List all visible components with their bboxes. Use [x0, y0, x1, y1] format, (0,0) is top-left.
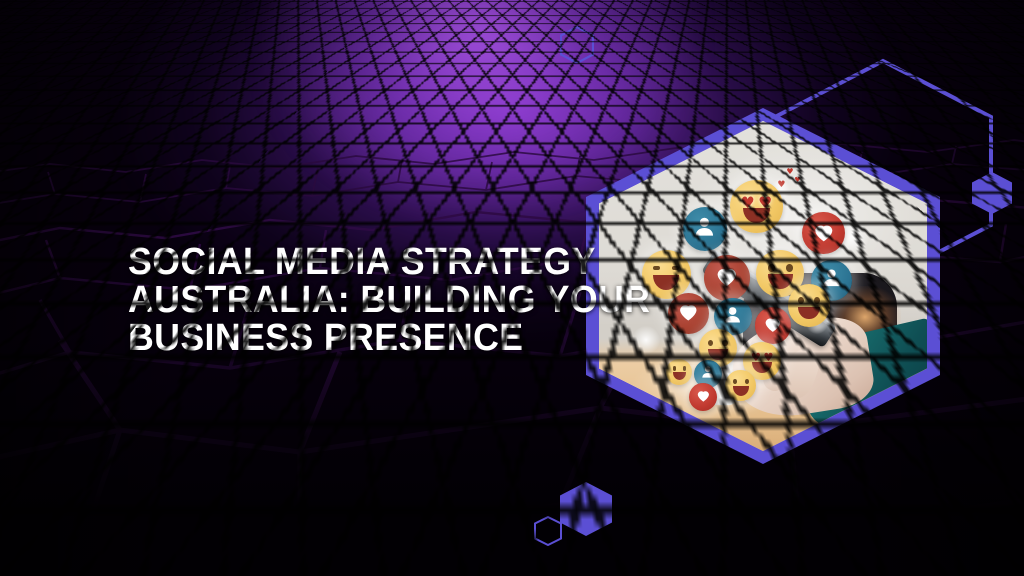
page-title: SOCIAL MEDIA STRATEGY AUSTRALIA: BUILDIN… [128, 243, 598, 357]
smiley-eye [798, 297, 804, 304]
headline-line-3: BUSINESS PRESENCE [128, 319, 570, 357]
smiley-eye [653, 266, 660, 270]
smiley-face: ♥♥ [730, 180, 782, 232]
heart-glyph-icon [713, 262, 741, 293]
smiley-hearteyes-icon: ♥♥ [730, 180, 782, 232]
person-glyph-icon [692, 214, 717, 244]
smiley-small-icon [666, 359, 692, 385]
smiley-eye [786, 264, 793, 272]
smiley-mouth [798, 307, 820, 320]
smiley-mouth [733, 386, 749, 395]
smiley-face [788, 284, 831, 327]
smiley-eye [672, 266, 679, 270]
mini-heart-icon: ♥ [794, 176, 800, 184]
smiley-eye [768, 264, 775, 272]
smiley-eye [745, 379, 749, 384]
heart-reaction-icon [668, 293, 709, 334]
mini-heart-icon: ♥ [786, 167, 793, 176]
smiley-eye [733, 379, 737, 384]
headline-line-2: AUSTRALIA: BUILDING YOUR [128, 281, 570, 319]
banner-root: SOCIAL MEDIA STRATEGY AUSTRALIA: BUILDIN… [0, 0, 1024, 576]
smiley-mouth [653, 275, 679, 290]
smiley-eye [683, 366, 687, 370]
smiley-eye [708, 340, 713, 346]
smiley-mouth [673, 372, 687, 380]
smiley-eye [814, 297, 820, 304]
smiley-mouth [708, 349, 728, 360]
smiley-face [725, 370, 756, 401]
person-glyph-icon [722, 304, 743, 330]
heart-reaction-icon [704, 255, 750, 301]
heart-glyph-icon [762, 313, 784, 338]
headline-line-1: SOCIAL MEDIA STRATEGY [128, 243, 570, 281]
heart-glyph-icon [676, 299, 701, 327]
heart-glyph-icon [811, 219, 837, 248]
light-bokeh [632, 326, 660, 354]
smiley-mouth [743, 208, 770, 224]
smiley-face [666, 359, 692, 385]
heart-glyph-icon [695, 387, 712, 407]
person-glyph-icon [700, 364, 716, 384]
user-reaction-icon [683, 207, 727, 251]
smiley-eye [673, 366, 677, 370]
heart-reaction-icon [755, 307, 791, 343]
smiley-small-icon [725, 370, 756, 401]
smiley-grin-icon [788, 284, 831, 327]
smiley-eye [722, 340, 727, 346]
heart-reaction-icon [802, 212, 845, 255]
